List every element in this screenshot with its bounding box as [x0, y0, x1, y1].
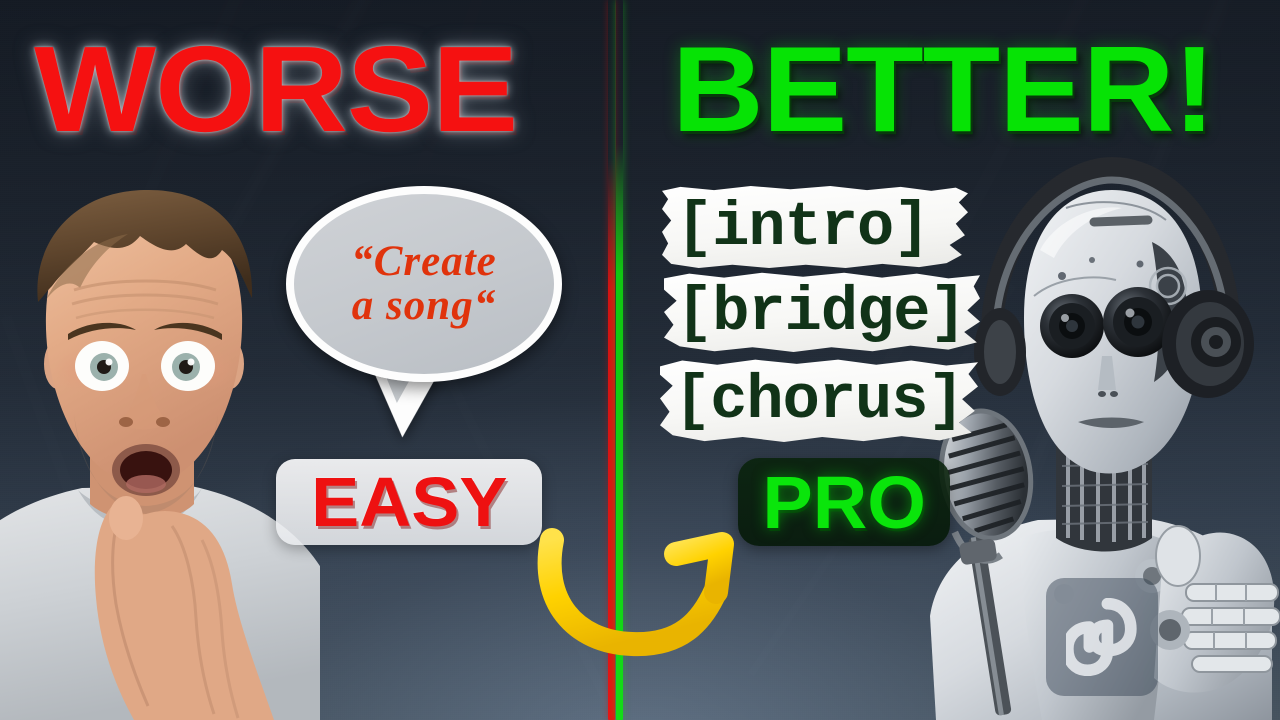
curved-arrow-up-right-icon	[530, 516, 760, 686]
prompt-strip-bridge-label: [bridge]	[676, 277, 966, 348]
thumbnail-canvas: WORSE BETTER! “Create a song“ [intro] [b…	[0, 0, 1280, 720]
prompt-strip-chorus: [chorus]	[660, 358, 978, 442]
badge-easy: EASY	[276, 459, 542, 545]
headline-better: BETTER!	[672, 28, 1215, 150]
prompt-strip-intro: [intro]	[662, 186, 968, 268]
prompt-strip-bridge: [bridge]	[664, 272, 980, 352]
badge-pro-label: PRO	[762, 460, 926, 545]
speech-bubble-line-1: “Create	[351, 240, 497, 284]
prompt-strip-intro-label: [intro]	[676, 192, 929, 263]
s-logo-watermark	[1046, 578, 1158, 696]
prompt-strip-chorus-label: [chorus]	[674, 365, 964, 436]
badge-easy-label: EASY	[311, 462, 507, 542]
speech-bubble-body: “Create a song“	[286, 186, 562, 382]
speech-bubble-line-2: a song“	[352, 284, 496, 328]
headline-worse: WORSE	[34, 28, 517, 150]
speech-bubble: “Create a song“	[286, 186, 562, 436]
surprised-man-photo	[0, 174, 320, 720]
badge-pro: PRO	[738, 458, 950, 546]
